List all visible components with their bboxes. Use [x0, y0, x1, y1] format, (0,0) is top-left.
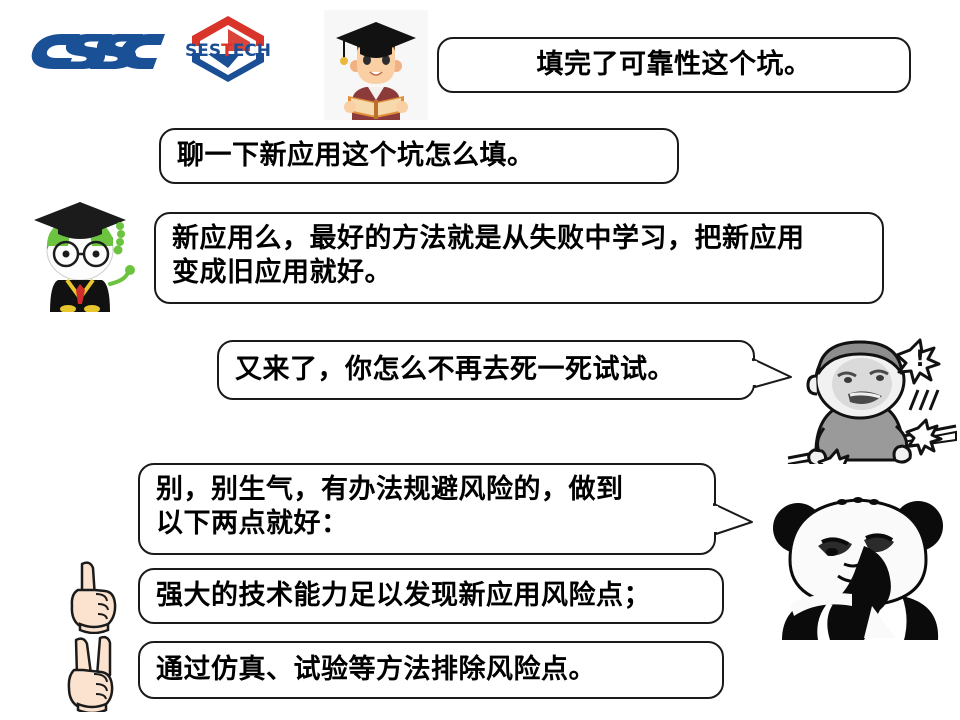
speech-bubble-7[interactable]: 通过仿真、试验等方法排除风险点。 [138, 641, 724, 699]
graduate-student-avatar [324, 10, 428, 120]
graduate-student-icon [324, 10, 428, 120]
speech-bubble-6[interactable]: 强大的技术能力足以发现新应用风险点； [138, 568, 724, 624]
cssc-logo [28, 24, 168, 74]
speech-bubble-1[interactable]: 填完了可靠性这个坑。 [437, 37, 911, 93]
sestech-word-part3: ECH [233, 41, 271, 61]
speech-bubble-5-text: 别，别生气，有办法规避风险的，做到 以下两点就好： [156, 473, 698, 541]
speech-bubble-5[interactable]: 别，别生气，有办法规避风险的，做到 以下两点就好： [138, 463, 716, 555]
speech-bubble-6-text: 强大的技术能力足以发现新应用风险点； [156, 579, 706, 613]
hand-victory-icon [58, 632, 134, 712]
angry-man-meme-icon: ! [778, 332, 960, 464]
sestech-word-part2: T [221, 41, 233, 61]
green-professor-avatar [22, 188, 146, 312]
sestech-logo: SESTECH [180, 12, 276, 84]
speech-bubble-4[interactable]: 又来了，你怎么不再去死一死试试。 [217, 340, 755, 400]
svg-text:!: ! [915, 347, 925, 372]
panda-face-meme [760, 494, 960, 640]
speech-bubble-1-text: 填完了可靠性这个坑。 [455, 48, 893, 82]
sestech-wordmark: SESTECH [182, 43, 274, 60]
speech-bubble-7-text: 通过仿真、试验等方法排除风险点。 [156, 653, 706, 687]
speech-bubble-4-text: 又来了，你怎么不再去死一死试试。 [235, 353, 737, 387]
hand-one-finger-icon [58, 556, 134, 634]
hand-point-up-icon [58, 556, 134, 634]
panda-face-meme-icon [760, 494, 960, 640]
angry-man-meme: ! [778, 332, 960, 464]
speech-bubble-2[interactable]: 聊一下新应用这个坑怎么填。 [159, 128, 679, 184]
speech-bubble-3[interactable]: 新应用么，最好的方法就是从失败中学习，把新应用 变成旧应用就好。 [154, 212, 884, 304]
speech-bubble-3-text: 新应用么，最好的方法就是从失败中学习，把新应用 变成旧应用就好。 [172, 222, 866, 290]
slide-canvas: SESTECH [0, 0, 960, 720]
green-professor-icon [22, 188, 146, 312]
speech-bubble-5-tail [714, 504, 750, 538]
hand-two-fingers-icon [58, 632, 134, 712]
cssc-logo-icon [28, 24, 168, 74]
speech-bubble-2-text: 聊一下新应用这个坑怎么填。 [177, 139, 661, 173]
sestech-word-part1: SES [185, 41, 221, 61]
